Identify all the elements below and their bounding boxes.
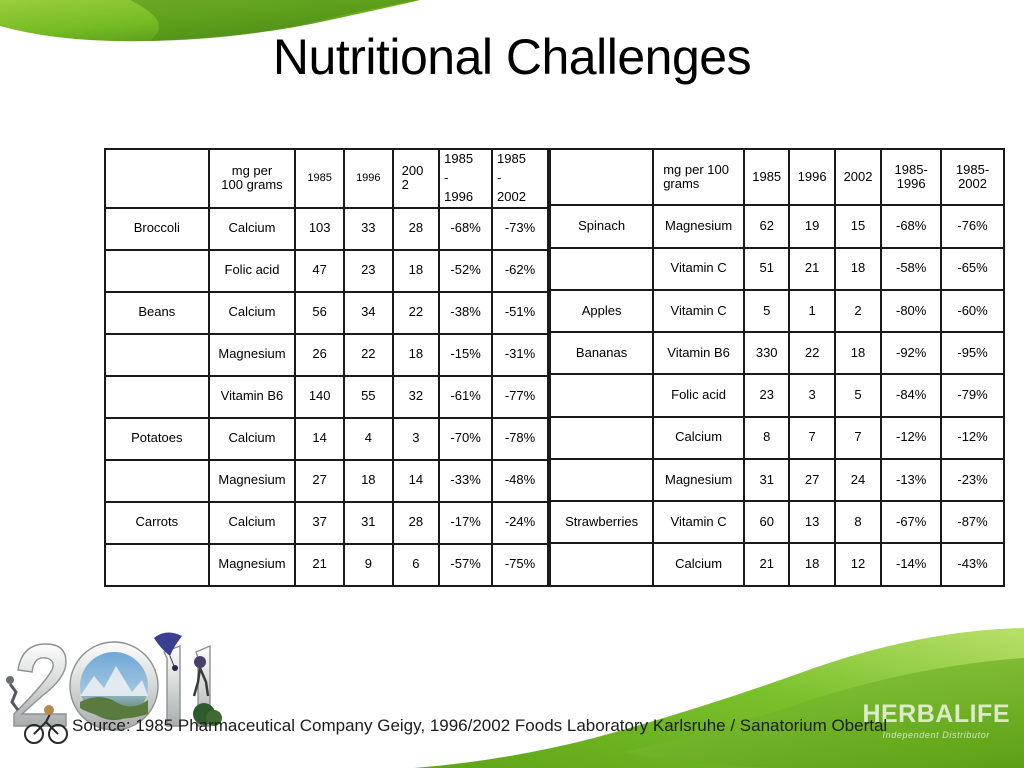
cell-change-1985-2002: -31% (493, 335, 547, 377)
cell-value-1985: 5 (745, 291, 790, 333)
cell-food: Beans (106, 293, 210, 335)
cell-value-1985: 26 (296, 335, 345, 377)
header-delta-2002-line3: 2002 (497, 189, 526, 204)
cell-food (551, 544, 654, 584)
header-food-empty (106, 150, 210, 209)
cell-change-1985-1996: -84% (882, 375, 942, 417)
cell-nutrient: Folic acid (654, 375, 745, 417)
cell-value-2002: 18 (394, 335, 441, 377)
header-delta-1985-1996: 1985 - 1996 (440, 150, 493, 209)
cell-food (106, 251, 210, 293)
cell-change-1985-1996: -13% (882, 460, 942, 502)
table-row: BeansCalcium563422-38%-51% (106, 293, 547, 335)
table-row: BroccoliCalcium1033328-68%-73% (106, 209, 547, 251)
cell-value-1996: 3 (790, 375, 835, 417)
cell-change-1985-2002: -24% (493, 503, 547, 545)
nutrient-tables-container: mg per 100 grams 1985 1996 200 2 1985 - … (104, 148, 1009, 587)
cell-value-1985: 330 (745, 333, 790, 375)
cell-food: Broccoli (106, 209, 210, 251)
header-year-2002-line1: 200 (402, 163, 424, 178)
cell-nutrient: Magnesium (210, 461, 297, 503)
cell-value-1985: 21 (296, 545, 345, 585)
header-unit-line1: mg per 100 (663, 162, 729, 177)
header-delta-1985-2002: 1985- 2002 (942, 150, 1003, 206)
header-year-2002: 200 2 (394, 150, 441, 209)
cell-value-2002: 18 (836, 333, 882, 375)
header-unit-line1: mg per (232, 163, 272, 178)
table-fruits: mg per 100 grams 1985 1996 2002 1985- 19… (549, 148, 1005, 587)
table-vegetables: mg per 100 grams 1985 1996 200 2 1985 - … (104, 148, 549, 587)
cell-nutrient: Vitamin B6 (210, 377, 297, 419)
cell-change-1985-1996: -57% (440, 545, 493, 585)
cell-change-1985-2002: -23% (942, 460, 1003, 502)
cell-nutrient: Vitamin C (654, 502, 745, 544)
header-year-2002-line2: 2 (402, 177, 409, 192)
header-year-1996: 1996 (790, 150, 835, 206)
cell-value-1996: 34 (345, 293, 394, 335)
cell-value-2002: 14 (394, 461, 441, 503)
header-delta-2002-line1: 1985 (497, 151, 526, 166)
cell-nutrient: Calcium (210, 503, 297, 545)
bottom-green-wave-decoration (324, 618, 1024, 768)
cell-nutrient: Vitamin C (654, 249, 745, 291)
table-row: ApplesVitamin C512-80%-60% (551, 291, 1003, 333)
cell-value-2002: 7 (836, 418, 882, 460)
cell-value-1996: 55 (345, 377, 394, 419)
cell-food: Strawberries (551, 502, 654, 544)
cell-food: Bananas (551, 333, 654, 375)
cell-value-1985: 103 (296, 209, 345, 251)
cell-value-1985: 37 (296, 503, 345, 545)
cell-change-1985-1996: -12% (882, 418, 942, 460)
cell-change-1985-1996: -33% (440, 461, 493, 503)
cell-change-1985-2002: -76% (942, 206, 1003, 248)
page-title: Nutritional Challenges (0, 28, 1024, 86)
header-year-1985: 1985 (745, 150, 790, 206)
cell-change-1985-1996: -68% (882, 206, 942, 248)
cell-value-2002: 12 (836, 544, 882, 584)
cell-value-1996: 13 (790, 502, 835, 544)
cell-value-2002: 5 (836, 375, 882, 417)
cell-value-2002: 28 (394, 209, 441, 251)
cell-change-1985-1996: -70% (440, 419, 493, 461)
table-row: CarrotsCalcium373128-17%-24% (106, 503, 547, 545)
cell-change-1985-2002: -12% (942, 418, 1003, 460)
table-row: SpinachMagnesium621915-68%-76% (551, 206, 1003, 248)
cell-change-1985-2002: -73% (493, 209, 547, 251)
cell-value-2002: 18 (394, 251, 441, 293)
table-row: Magnesium312724-13%-23% (551, 460, 1003, 502)
cell-value-1996: 19 (790, 206, 835, 248)
header-delta-2002-line1: 1985- (956, 162, 989, 177)
cell-change-1985-1996: -92% (882, 333, 942, 375)
cell-change-1985-2002: -77% (493, 377, 547, 419)
header-year-1985: 1985 (296, 150, 345, 209)
cell-value-1996: 27 (790, 460, 835, 502)
cell-value-1996: 9 (345, 545, 394, 585)
cell-change-1985-2002: -65% (942, 249, 1003, 291)
cell-value-1985: 62 (745, 206, 790, 248)
cell-change-1985-1996: -52% (440, 251, 493, 293)
cell-value-1985: 140 (296, 377, 345, 419)
header-year-1996: 1996 (345, 150, 394, 209)
cell-nutrient: Magnesium (210, 335, 297, 377)
cell-change-1985-2002: -62% (493, 251, 547, 293)
header-delta-2002-line2: 2002 (958, 176, 987, 191)
header-unit: mg per 100 grams (654, 150, 745, 206)
table-header-row: mg per 100 grams 1985 1996 2002 1985- 19… (551, 150, 1003, 206)
cell-change-1985-1996: -38% (440, 293, 493, 335)
cell-value-2002: 8 (836, 502, 882, 544)
cell-value-1985: 14 (296, 419, 345, 461)
table-header-row: mg per 100 grams 1985 1996 200 2 1985 - … (106, 150, 547, 209)
table-row: Folic acid472318-52%-62% (106, 251, 547, 293)
header-delta-1996-line1: 1985- (895, 162, 928, 177)
table-row: Vitamin B61405532-61%-77% (106, 377, 547, 419)
cell-value-2002: 6 (394, 545, 441, 585)
cell-nutrient: Magnesium (654, 460, 745, 502)
header-unit-line2: grams (663, 176, 699, 191)
cell-value-1985: 23 (745, 375, 790, 417)
cell-value-1996: 21 (790, 249, 835, 291)
cell-nutrient: Calcium (210, 209, 297, 251)
cell-value-2002: 24 (836, 460, 882, 502)
cell-change-1985-2002: -79% (942, 375, 1003, 417)
cell-value-1996: 7 (790, 418, 835, 460)
cell-change-1985-2002: -43% (942, 544, 1003, 584)
cell-value-1985: 47 (296, 251, 345, 293)
header-unit: mg per 100 grams (210, 150, 297, 209)
cell-food (551, 460, 654, 502)
cell-value-1985: 31 (745, 460, 790, 502)
cell-nutrient: Calcium (654, 418, 745, 460)
cell-food (551, 249, 654, 291)
cell-value-2002: 15 (836, 206, 882, 248)
cell-food: Apples (551, 291, 654, 333)
cell-change-1985-2002: -48% (493, 461, 547, 503)
cell-change-1985-2002: -95% (942, 333, 1003, 375)
header-delta-1996-line2: 1996 (897, 176, 926, 191)
cell-value-1985: 60 (745, 502, 790, 544)
header-delta-1996-line3: 1996 (444, 189, 473, 204)
table-row: Vitamin C512118-58%-65% (551, 249, 1003, 291)
header-year-2002: 2002 (836, 150, 882, 206)
source-caption: Source: 1985 Pharmaceutical Company Geig… (72, 716, 887, 736)
cell-change-1985-1996: -58% (882, 249, 942, 291)
cell-value-2002: 28 (394, 503, 441, 545)
table-row: Calcium211812-14%-43% (551, 544, 1003, 584)
cell-value-1985: 21 (745, 544, 790, 584)
cell-value-1985: 51 (745, 249, 790, 291)
table-row: Magnesium2196-57%-75% (106, 545, 547, 585)
cell-nutrient: Magnesium (654, 206, 745, 248)
table-row: Magnesium262218-15%-31% (106, 335, 547, 377)
cell-food (106, 335, 210, 377)
cell-change-1985-2002: -75% (493, 545, 547, 585)
table-row: BananasVitamin B63302218-92%-95% (551, 333, 1003, 375)
cell-value-1985: 27 (296, 461, 345, 503)
cell-value-2002: 22 (394, 293, 441, 335)
cell-nutrient: Calcium (654, 544, 745, 584)
cell-change-1985-2002: -87% (942, 502, 1003, 544)
cell-change-1985-1996: -61% (440, 377, 493, 419)
table-row: Calcium877-12%-12% (551, 418, 1003, 460)
header-unit-line2: 100 grams (221, 177, 282, 192)
cell-value-1996: 23 (345, 251, 394, 293)
cell-food (106, 461, 210, 503)
table-row: Folic acid2335-84%-79% (551, 375, 1003, 417)
cell-nutrient: Magnesium (210, 545, 297, 585)
header-delta-1996-line2: - (444, 170, 448, 185)
cell-value-2002: 2 (836, 291, 882, 333)
cell-value-2002: 32 (394, 377, 441, 419)
cell-nutrient: Folic acid (210, 251, 297, 293)
cell-change-1985-1996: -68% (440, 209, 493, 251)
table-row: PotatoesCalcium1443-70%-78% (106, 419, 547, 461)
cell-value-1996: 31 (345, 503, 394, 545)
table-row: Magnesium271814-33%-48% (106, 461, 547, 503)
cell-nutrient: Calcium (210, 293, 297, 335)
cell-change-1985-2002: -51% (493, 293, 547, 335)
table-row: StrawberriesVitamin C60138-67%-87% (551, 502, 1003, 544)
cell-nutrient: Vitamin C (654, 291, 745, 333)
cell-value-1996: 18 (790, 544, 835, 584)
cell-value-2002: 3 (394, 419, 441, 461)
cell-food: Spinach (551, 206, 654, 248)
cell-food (551, 418, 654, 460)
cell-food (106, 545, 210, 585)
cell-value-1985: 56 (296, 293, 345, 335)
header-delta-1985-2002: 1985 - 2002 (493, 150, 547, 209)
cell-value-1996: 4 (345, 419, 394, 461)
cell-food: Potatoes (106, 419, 210, 461)
cell-change-1985-2002: -60% (942, 291, 1003, 333)
header-delta-1996-line1: 1985 (444, 151, 473, 166)
cell-change-1985-1996: -17% (440, 503, 493, 545)
cell-change-1985-1996: -67% (882, 502, 942, 544)
cell-value-2002: 18 (836, 249, 882, 291)
header-food-empty (551, 150, 654, 206)
header-delta-1985-1996: 1985- 1996 (882, 150, 942, 206)
cell-value-1996: 22 (345, 335, 394, 377)
cell-change-1985-2002: -78% (493, 419, 547, 461)
cell-value-1985: 8 (745, 418, 790, 460)
cell-nutrient: Calcium (210, 419, 297, 461)
header-delta-2002-line2: - (497, 170, 501, 185)
cell-change-1985-1996: -80% (882, 291, 942, 333)
cell-change-1985-1996: -15% (440, 335, 493, 377)
cell-value-1996: 1 (790, 291, 835, 333)
cell-value-1996: 33 (345, 209, 394, 251)
cell-value-1996: 22 (790, 333, 835, 375)
cell-food (551, 375, 654, 417)
cell-change-1985-1996: -14% (882, 544, 942, 584)
cell-value-1996: 18 (345, 461, 394, 503)
cell-food: Carrots (106, 503, 210, 545)
cell-nutrient: Vitamin B6 (654, 333, 745, 375)
cell-food (106, 377, 210, 419)
